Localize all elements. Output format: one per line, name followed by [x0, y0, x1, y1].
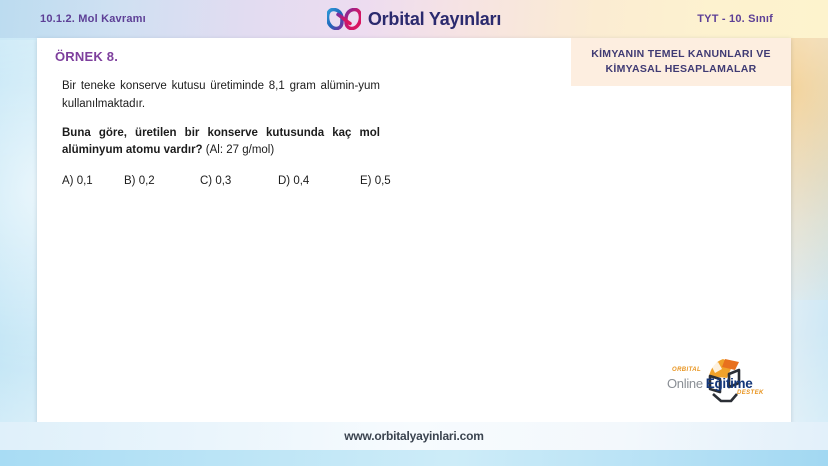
badge-main-text: Online Eğitime — [667, 376, 769, 391]
badge-egitime-label: Eğitime — [706, 376, 753, 391]
question-prompt: Buna göre, üretilen bir konserve kutusun… — [62, 125, 380, 161]
option-a[interactable]: A) 0,1 — [62, 175, 124, 187]
option-b[interactable]: B) 0,2 — [124, 175, 200, 187]
online-education-badge: ORBITAL Online Eğitime DESTEK — [665, 356, 769, 406]
page-footer: www.orbitalyayinlari.com — [0, 422, 828, 450]
topic-banner-line-1: KİMYANIN TEMEL KANUNLARI VE — [581, 47, 781, 62]
topic-banner: KİMYANIN TEMEL KANUNLARI VE KİMYASAL HES… — [571, 38, 791, 86]
header-exam-level: TYT - 10. Sınıf — [697, 13, 773, 25]
option-c[interactable]: C) 0,3 — [200, 175, 278, 187]
badge-orbital-label: ORBITAL — [672, 367, 701, 373]
badge-online-label: Online — [667, 376, 703, 391]
slide-page: 10.1.2. Mol Kavramı — [0, 0, 828, 466]
example-label: ÖRNEK 8. — [55, 49, 553, 64]
topic-banner-line-2: KİMYASAL HESAPLAMALAR — [581, 62, 781, 77]
answer-options: A) 0,1 B) 0,2 C) 0,3 D) 0,4 E) 0,5 — [62, 175, 392, 187]
page-header: 10.1.2. Mol Kavramı — [0, 0, 828, 38]
brand-name: Orbital Yayınları — [368, 9, 501, 30]
question-stem: Bir teneke konserve kutusu üretiminde 8,… — [62, 78, 380, 114]
question-prompt-note: (Al: 27 g/mol) — [206, 144, 274, 156]
option-e[interactable]: E) 0,5 — [360, 175, 391, 187]
option-d[interactable]: D) 0,4 — [278, 175, 360, 187]
footer-accent-strip — [0, 450, 828, 466]
orbital-infinity-icon — [327, 8, 361, 30]
badge-destek-label: DESTEK — [737, 390, 764, 396]
content-panel: ÖRNEK 8. Bir teneke konserve kutusu üret… — [37, 38, 791, 424]
footer-website-url[interactable]: www.orbitalyayinlari.com — [344, 429, 483, 443]
question-column: ÖRNEK 8. Bir teneke konserve kutusu üret… — [37, 38, 571, 424]
